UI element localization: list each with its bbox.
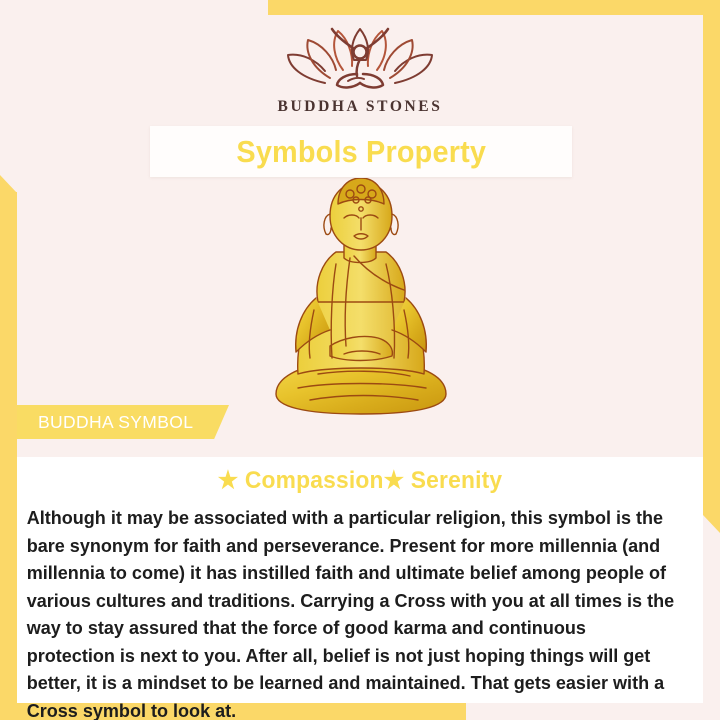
- seated-buddha-statue-icon: [258, 178, 463, 423]
- category-badge: BUDDHA SYMBOL: [17, 405, 229, 439]
- attributes-headline: ★ Compassion★ Serenity: [34, 457, 686, 495]
- buddha-statue-illustration: [258, 178, 463, 423]
- brand-name: BUDDHA STONES: [0, 98, 720, 116]
- decorative-frame-left: [0, 192, 17, 720]
- decorative-frame-top: [268, 0, 720, 15]
- poster-canvas: BUDDHA STONES Symbols Property: [0, 0, 720, 720]
- description-card: ★ Compassion★ Serenity Although it may b…: [17, 457, 703, 703]
- decorative-frame-right-tip: [703, 515, 720, 533]
- category-badge-label: BUDDHA SYMBOL: [17, 412, 193, 433]
- brand-header: BUDDHA STONES: [0, 22, 720, 116]
- title-banner: Symbols Property: [150, 126, 572, 177]
- lotus-meditation-icon: [282, 22, 438, 92]
- page-title: Symbols Property: [236, 134, 486, 170]
- decorative-frame-left-tip: [0, 175, 17, 193]
- description-paragraph: Although it may be associated with a par…: [17, 495, 682, 720]
